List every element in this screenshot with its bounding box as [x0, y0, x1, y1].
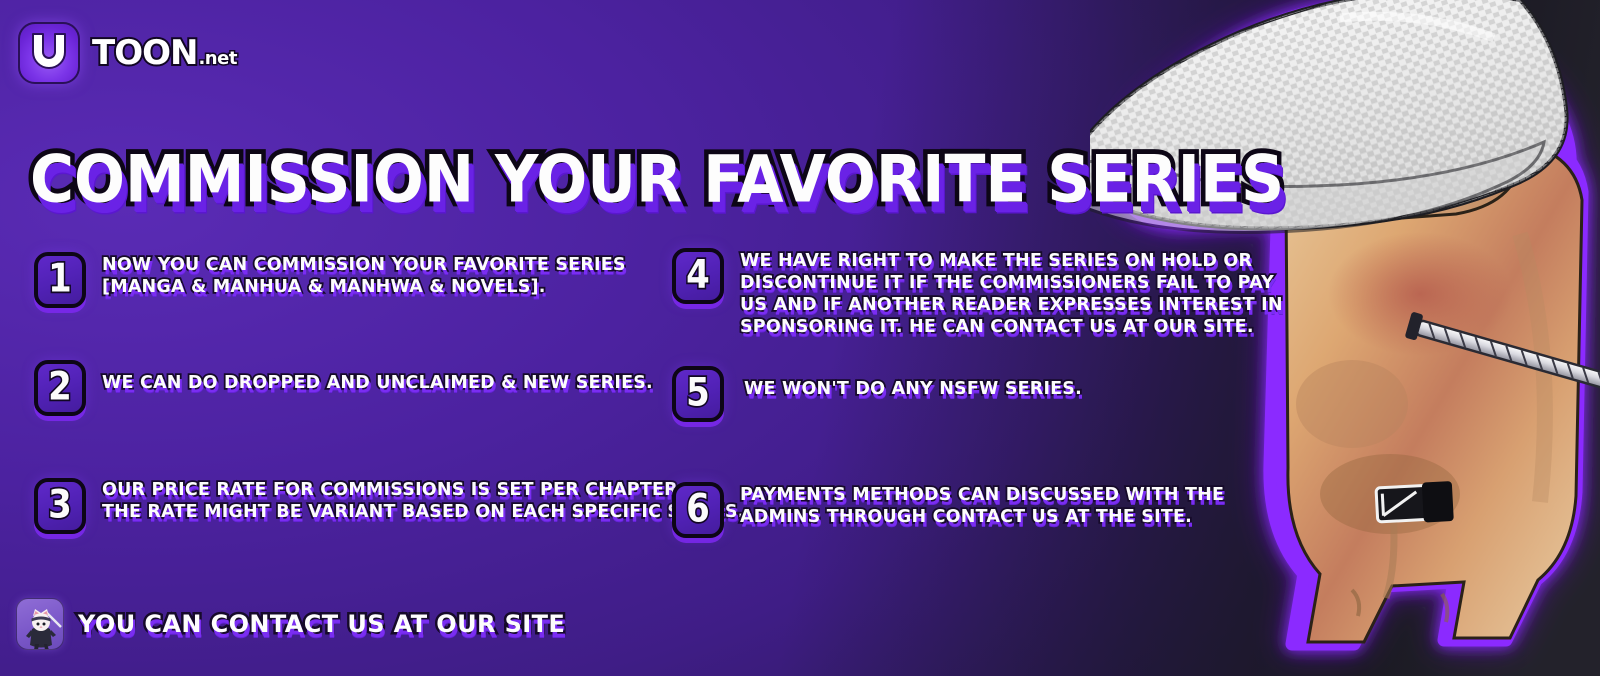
commission-banner: TOON .net COMMISSION YOUR FAVORITE SERIE… — [0, 0, 1600, 676]
logo-wordmark: TOON .net — [92, 36, 237, 70]
contact-text: YOU CAN CONTACT US AT OUR SITE — [78, 610, 565, 638]
item-number-badge: 4 — [672, 248, 724, 304]
list-item: 5 WE WON'T DO ANY NSFW SERIES. — [672, 366, 1242, 422]
item-text-line: OUR PRICE RATE FOR COMMISSIONS IS SET PE… — [102, 479, 745, 501]
terms-column-right: 4 WE HAVE RIGHT TO MAKE THE SERIES ON HO… — [672, 248, 1242, 544]
site-logo[interactable]: TOON .net — [18, 22, 237, 84]
page-title: COMMISSION YOUR FAVORITE SERIES — [30, 142, 1284, 218]
item-text: WE WON'T DO ANY NSFW SERIES. — [744, 366, 1082, 400]
list-item: 6 PAYMENTS METHODS CAN DISCUSSED WITH TH… — [672, 482, 1242, 538]
ninja-cat-icon — [16, 598, 64, 650]
list-item: 3 OUR PRICE RATE FOR COMMISSIONS IS SET … — [34, 478, 684, 534]
item-number: 1 — [48, 259, 72, 298]
item-number-badge: 6 — [672, 482, 724, 538]
item-text-line: DISCONTINUE IT IF THE COMMISSIONERS FAIL… — [740, 272, 1283, 294]
item-number: 2 — [48, 367, 72, 406]
item-text-line: NOW YOU CAN COMMISSION YOUR FAVORITE SER… — [102, 254, 626, 276]
contact-footer[interactable]: YOU CAN CONTACT US AT OUR SITE — [16, 598, 565, 650]
logo-name: TOON — [92, 36, 197, 70]
terms-column-left: 1 NOW YOU CAN COMMISSION YOUR FAVORITE S… — [34, 252, 684, 540]
list-item: 2 WE CAN DO DROPPED AND UNCLAIMED & NEW … — [34, 360, 684, 416]
item-text-line: PAYMENTS METHODS CAN DISCUSSED WITH THE — [740, 484, 1224, 506]
item-number-badge: 1 — [34, 252, 86, 308]
item-number: 3 — [48, 485, 72, 524]
item-number: 5 — [686, 373, 710, 412]
item-text: OUR PRICE RATE FOR COMMISSIONS IS SET PE… — [102, 478, 745, 523]
list-item: 4 WE HAVE RIGHT TO MAKE THE SERIES ON HO… — [672, 248, 1242, 338]
item-text: WE CAN DO DROPPED AND UNCLAIMED & NEW SE… — [102, 360, 653, 394]
logo-tld: .net — [198, 50, 236, 68]
item-text-line: [MANGA & MANHUA & MANHWA & NOVELS]. — [102, 276, 626, 298]
item-number-badge: 5 — [672, 366, 724, 422]
item-text: NOW YOU CAN COMMISSION YOUR FAVORITE SER… — [102, 252, 626, 298]
item-number-badge: 2 — [34, 360, 86, 416]
item-number: 4 — [686, 255, 710, 294]
item-text-line: US AND IF ANOTHER READER EXPRESSES INTER… — [740, 294, 1283, 316]
item-number-badge: 3 — [34, 478, 86, 534]
item-text-line: WE WON'T DO ANY NSFW SERIES. — [744, 378, 1082, 400]
item-text-line: THE RATE MIGHT BE VARIANT BASED ON EACH … — [102, 501, 745, 523]
item-text-line: WE CAN DO DROPPED AND UNCLAIMED & NEW SE… — [102, 372, 653, 394]
crescent-u-logo-icon — [18, 22, 80, 84]
list-item: 1 NOW YOU CAN COMMISSION YOUR FAVORITE S… — [34, 252, 684, 308]
item-text: WE HAVE RIGHT TO MAKE THE SERIES ON HOLD… — [740, 248, 1283, 338]
item-text-line: ADMINS THROUGH CONTACT US AT THE SITE. — [740, 506, 1224, 528]
item-text-line: SPONSORING IT. HE CAN CONTACT US AT OUR … — [740, 316, 1283, 338]
item-text: PAYMENTS METHODS CAN DISCUSSED WITH THE … — [740, 482, 1224, 528]
item-number: 6 — [686, 489, 710, 528]
item-text-line: WE HAVE RIGHT TO MAKE THE SERIES ON HOLD… — [740, 250, 1283, 272]
